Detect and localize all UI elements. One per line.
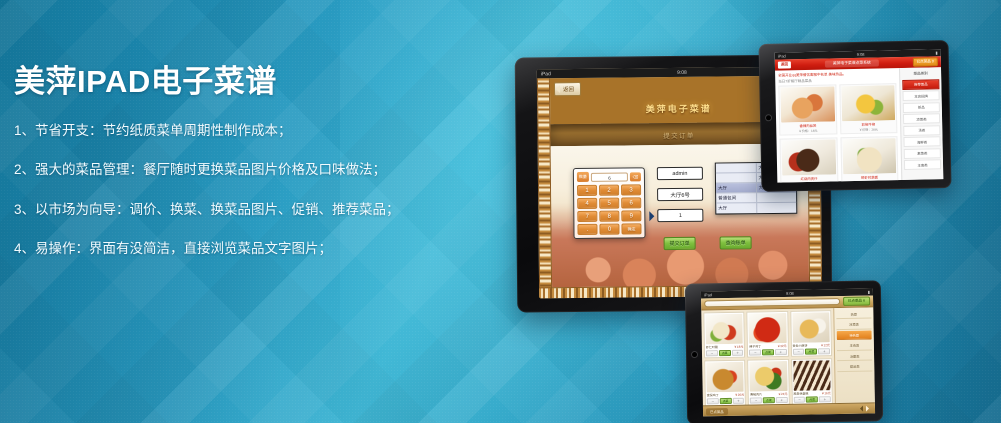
- dish-meta: 黑森林蛋糕 ￥16元: [793, 391, 830, 396]
- category-item[interactable]: 汤类: [903, 125, 940, 136]
- dish-card[interactable]: 黑森林蛋糕 ￥16元 － 点菜 ＋: [791, 358, 833, 405]
- dish-card[interactable]: 鲜虾时蔬面 ￥价格：22元: [840, 137, 899, 183]
- category-item[interactable]: 主食类: [904, 159, 941, 170]
- decrease-button[interactable]: －: [793, 397, 805, 403]
- pointer-arrow-icon: [649, 211, 659, 221]
- category-sidebar: 菜品类别 推荐菜品 本店招牌 新品 凉菜类 汤类 海鲜类 素菜类 主食类: [899, 67, 943, 180]
- dish-photo: [792, 312, 830, 343]
- keypad-key-7[interactable]: 7: [577, 211, 597, 222]
- dish-meta: 虾仁时蔬 ￥18元: [706, 345, 743, 350]
- keypad-key-2[interactable]: 2: [599, 185, 619, 196]
- page-title: 美萍IPAD电子菜谱: [14, 64, 484, 100]
- order-button[interactable]: 点菜: [805, 348, 817, 354]
- dish-price: ￥18元: [734, 345, 743, 349]
- cart-button[interactable]: 已点菜品 6: [843, 296, 871, 305]
- dish-price: ￥价格：28元: [842, 127, 896, 133]
- order-button[interactable]: 点菜: [806, 396, 818, 402]
- status-time: 9:08: [857, 52, 865, 57]
- dish-grid-area: 虾仁时蔬 ￥18元 － 点菜 ＋ 辣: [701, 308, 835, 405]
- decrease-button[interactable]: －: [707, 398, 719, 404]
- status-battery: ▮: [868, 289, 870, 294]
- category-item-active[interactable]: 推荐菜品: [902, 79, 939, 90]
- dish-name: 虾仁时蔬: [706, 345, 718, 349]
- toolbar-title: 美萍电子菜谱点菜系统: [825, 59, 879, 67]
- category-item[interactable]: 热菜: [836, 309, 871, 319]
- keypad-key-9[interactable]: 9: [621, 210, 641, 221]
- next-arrow-icon[interactable]: [866, 405, 872, 411]
- category-item[interactable]: 素菜类: [904, 148, 941, 159]
- dish-grid-area: 全国开业qq美萍餐饮客服中名单 美味热品。 当日7折餐厅精品菜品 香辣肉丝煲 ￥…: [775, 68, 901, 183]
- home-button-icon[interactable]: [765, 114, 772, 121]
- category-item-active[interactable]: 特色菜: [837, 330, 872, 340]
- table-seat-cell: [757, 203, 797, 213]
- dish-photo: [706, 362, 744, 393]
- feature-list: 1、节省开支：节约纸质菜单周期性制作成本； 2、强大的菜品管理：餐厅随时更换菜品…: [14, 122, 484, 258]
- table-row[interactable]: 大厅: [716, 203, 796, 214]
- keypad-key-6[interactable]: 6: [621, 197, 641, 208]
- status-time: 9:08: [677, 69, 687, 75]
- marketing-copy: 美萍IPAD电子菜谱 1、节省开支：节约纸质菜单周期性制作成本； 2、强大的菜品…: [14, 64, 484, 280]
- dish-price: ￥26元: [735, 393, 744, 397]
- ipad-mockup-bottom-right: iPad 9:08 ▮ 已点菜品 6 虾仁时蔬 ￥18元: [685, 280, 883, 423]
- keypad-key-5[interactable]: 5: [599, 198, 619, 209]
- dish-photo: [842, 139, 896, 175]
- dish-card[interactable]: 红烧肉煲仔 ￥价格：32元: [779, 138, 838, 183]
- order-fields: admin 大厅6号 1: [657, 167, 704, 230]
- menu-body: 虾仁时蔬 ￥18元 － 点菜 ＋ 辣: [701, 307, 875, 405]
- ipad-mockup-top-right: iPad 9:08 ▮ 返回 美萍电子菜谱点菜系统 已点菜品 0 全国开业qq美…: [758, 40, 951, 192]
- dish-meta: 青椒肉片 ￥24元: [750, 392, 787, 397]
- category-item[interactable]: 汤羹类: [837, 351, 872, 361]
- table-field[interactable]: 大厅6号: [657, 188, 703, 201]
- category-header: 菜品类别: [902, 69, 939, 78]
- increase-button[interactable]: ＋: [732, 350, 744, 356]
- category-item[interactable]: 凉菜类: [836, 320, 871, 330]
- dish-price: ￥价格：32元: [782, 181, 836, 183]
- category-item[interactable]: 主食类: [837, 341, 872, 351]
- decrease-button[interactable]: －: [750, 397, 762, 403]
- decrease-button[interactable]: －: [749, 349, 761, 355]
- increase-button[interactable]: ＋: [819, 396, 831, 402]
- promo-banner: 美萍IPAD电子菜谱 1、节省开支：节约纸质菜单周期性制作成本； 2、强大的菜品…: [0, 0, 1001, 423]
- keypad-display: 数量 6 ⌫: [577, 171, 641, 182]
- keypad-key-3[interactable]: 3: [621, 184, 641, 195]
- back-button[interactable]: 返回: [554, 82, 581, 96]
- numeric-keypad[interactable]: 数量 6 ⌫ 1 2 3 4 5 6 7: [573, 167, 646, 239]
- table-area-cell: 大厅: [716, 183, 757, 192]
- ipad-tr-screen: iPad 9:08 ▮ 返回 美萍电子菜谱点菜系统 已点菜品 0 全国开业qq美…: [775, 49, 944, 182]
- table-area-cell: [716, 163, 757, 172]
- keypad-value-input[interactable]: 6: [591, 172, 628, 181]
- keypad-key-confirm[interactable]: 确定: [621, 223, 641, 234]
- query-bill-button[interactable]: 查询账单: [720, 236, 752, 249]
- category-item[interactable]: 海鲜类: [903, 136, 940, 147]
- dish-price: ￥价格：18元: [781, 128, 835, 134]
- submit-order-button[interactable]: 提交订单: [664, 237, 696, 250]
- dish-card[interactable]: 辣子鸡丁 ￥32元 － 点菜 ＋: [747, 311, 789, 358]
- dish-name: 黑森林蛋糕: [793, 392, 808, 396]
- prev-arrow-icon[interactable]: [857, 406, 863, 412]
- dish-photo: [793, 360, 831, 391]
- dish-photo: [705, 314, 743, 345]
- user-field[interactable]: admin: [657, 167, 703, 180]
- keypad-key-8[interactable]: 8: [599, 211, 619, 222]
- ipad-br-screen: iPad 9:08 ▮ 已点菜品 6 虾仁时蔬 ￥18元: [701, 288, 875, 416]
- dish-meta: 辣子鸡丁 ￥32元: [749, 344, 786, 349]
- dish-card[interactable]: 彩椒牛柳 ￥价格：28元: [839, 84, 898, 135]
- search-input[interactable]: [704, 298, 840, 307]
- decrease-button[interactable]: －: [793, 349, 805, 355]
- dish-card[interactable]: 黄金小酥饼 ￥12元 － 点菜 ＋: [790, 310, 832, 357]
- keypad-key-1[interactable]: 1: [577, 185, 597, 196]
- dish-actions: － 点菜 ＋: [707, 398, 744, 405]
- keypad-key-dot[interactable]: .: [577, 224, 597, 235]
- status-battery: ▮: [935, 50, 937, 55]
- dish-photo: [782, 140, 836, 176]
- cart-button[interactable]: 已点菜品 0: [912, 57, 938, 67]
- dish-name: 青椒肉片: [750, 392, 762, 396]
- dish-name: 宫保鸡丁: [707, 393, 719, 397]
- dish-actions: － 点菜 ＋: [749, 349, 786, 356]
- dish-grid: 香辣肉丝煲 ￥价格：18元 彩椒牛柳 ￥价格：28元 红烧肉煲仔 ￥价格：32元: [778, 84, 898, 183]
- order-button[interactable]: 点菜: [762, 349, 774, 355]
- list-item: 2、强大的菜品管理：餐厅随时更换菜品图片价格及口味做法；: [14, 161, 484, 179]
- footer-label[interactable]: 已点菜品: [706, 407, 728, 414]
- dish-card[interactable]: 宫保鸡丁 ￥26元 － 点菜 ＋: [704, 360, 746, 407]
- order-button[interactable]: 点菜: [720, 398, 732, 404]
- keypad-key-0[interactable]: 0: [599, 224, 619, 235]
- dish-photo: [841, 86, 895, 122]
- back-button[interactable]: 返回: [778, 61, 791, 68]
- list-item: 3、以市场为向导：调价、换菜、换菜品图片、促销、推荐菜品；: [14, 201, 484, 219]
- dish-actions: － 点菜 ＋: [706, 350, 743, 357]
- backspace-icon[interactable]: ⌫: [630, 172, 641, 181]
- dish-name: 黄金小酥饼: [793, 344, 808, 348]
- category-item[interactable]: 甜品类: [837, 362, 872, 372]
- table-area-cell: 普通包间: [716, 193, 757, 202]
- status-carrier: iPad: [704, 292, 712, 297]
- status-time: 9:08: [786, 291, 794, 296]
- count-field[interactable]: 1: [657, 209, 703, 222]
- dish-card[interactable]: 虾仁时蔬 ￥18元 － 点菜 ＋: [703, 312, 745, 359]
- category-item[interactable]: 本店招牌: [902, 90, 939, 101]
- category-sidebar: 热菜 凉菜类 特色菜 主食类 汤羹类 甜品类: [833, 307, 875, 403]
- decrease-button[interactable]: －: [706, 350, 718, 356]
- app-footer: 已点菜品: [703, 402, 875, 416]
- dish-price: ￥12元: [820, 343, 829, 347]
- home-button-icon[interactable]: [691, 351, 698, 358]
- dish-card[interactable]: 香辣肉丝煲 ￥价格：18元: [778, 85, 837, 136]
- list-item: 1、节省开支：节约纸质菜单周期性制作成本；: [14, 122, 484, 140]
- dish-grid: 虾仁时蔬 ￥18元 － 点菜 ＋ 辣: [703, 310, 833, 406]
- dish-actions: － 点菜 ＋: [793, 396, 830, 403]
- table-seat-cell: [757, 193, 797, 202]
- dish-name: 辣子鸡丁: [749, 344, 761, 348]
- dish-actions: － 点菜 ＋: [793, 348, 830, 355]
- table-area-cell: 大厅: [716, 203, 757, 213]
- increase-button[interactable]: ＋: [776, 397, 788, 403]
- order-button[interactable]: 点菜: [763, 397, 775, 403]
- dish-price: ￥24元: [778, 392, 787, 396]
- dish-meta: 宫保鸡丁 ￥26元: [707, 393, 744, 398]
- dish-actions: － 点菜 ＋: [750, 397, 787, 404]
- increase-button[interactable]: ＋: [775, 349, 787, 355]
- dish-photo: [749, 361, 787, 392]
- dish-price: ￥价格：22元: [843, 180, 897, 183]
- increase-button[interactable]: ＋: [732, 398, 744, 404]
- dish-price: ￥16元: [821, 391, 830, 395]
- category-item[interactable]: 新品: [903, 102, 940, 113]
- table-area-cell: [716, 173, 757, 182]
- increase-button[interactable]: ＋: [818, 348, 830, 354]
- dish-card[interactable]: 青椒肉片 ￥24元 － 点菜 ＋: [747, 359, 789, 406]
- category-item[interactable]: 凉菜类: [903, 113, 940, 124]
- list-item: 4、易操作：界面有没简洁，直接浏览菜品文字图片；: [14, 240, 484, 258]
- dish-photo: [749, 313, 787, 344]
- menu-body: 全国开业qq美萍餐饮客服中名单 美味热品。 当日7折餐厅精品菜品 香辣肉丝煲 ￥…: [775, 67, 943, 182]
- dish-photo: [780, 87, 834, 123]
- dish-price: ￥32元: [777, 344, 786, 348]
- dish-meta: 黄金小酥饼 ￥12元: [793, 343, 830, 348]
- keypad-tag-label: 数量: [577, 172, 589, 182]
- order-button[interactable]: 点菜: [719, 350, 731, 356]
- status-carrier: iPad: [541, 71, 551, 77]
- status-carrier: iPad: [778, 53, 786, 58]
- keypad-grid: 1 2 3 4 5 6 7 8 9 . 0 确定: [577, 184, 642, 235]
- keypad-key-4[interactable]: 4: [577, 198, 597, 209]
- pagination-nav: [857, 405, 872, 411]
